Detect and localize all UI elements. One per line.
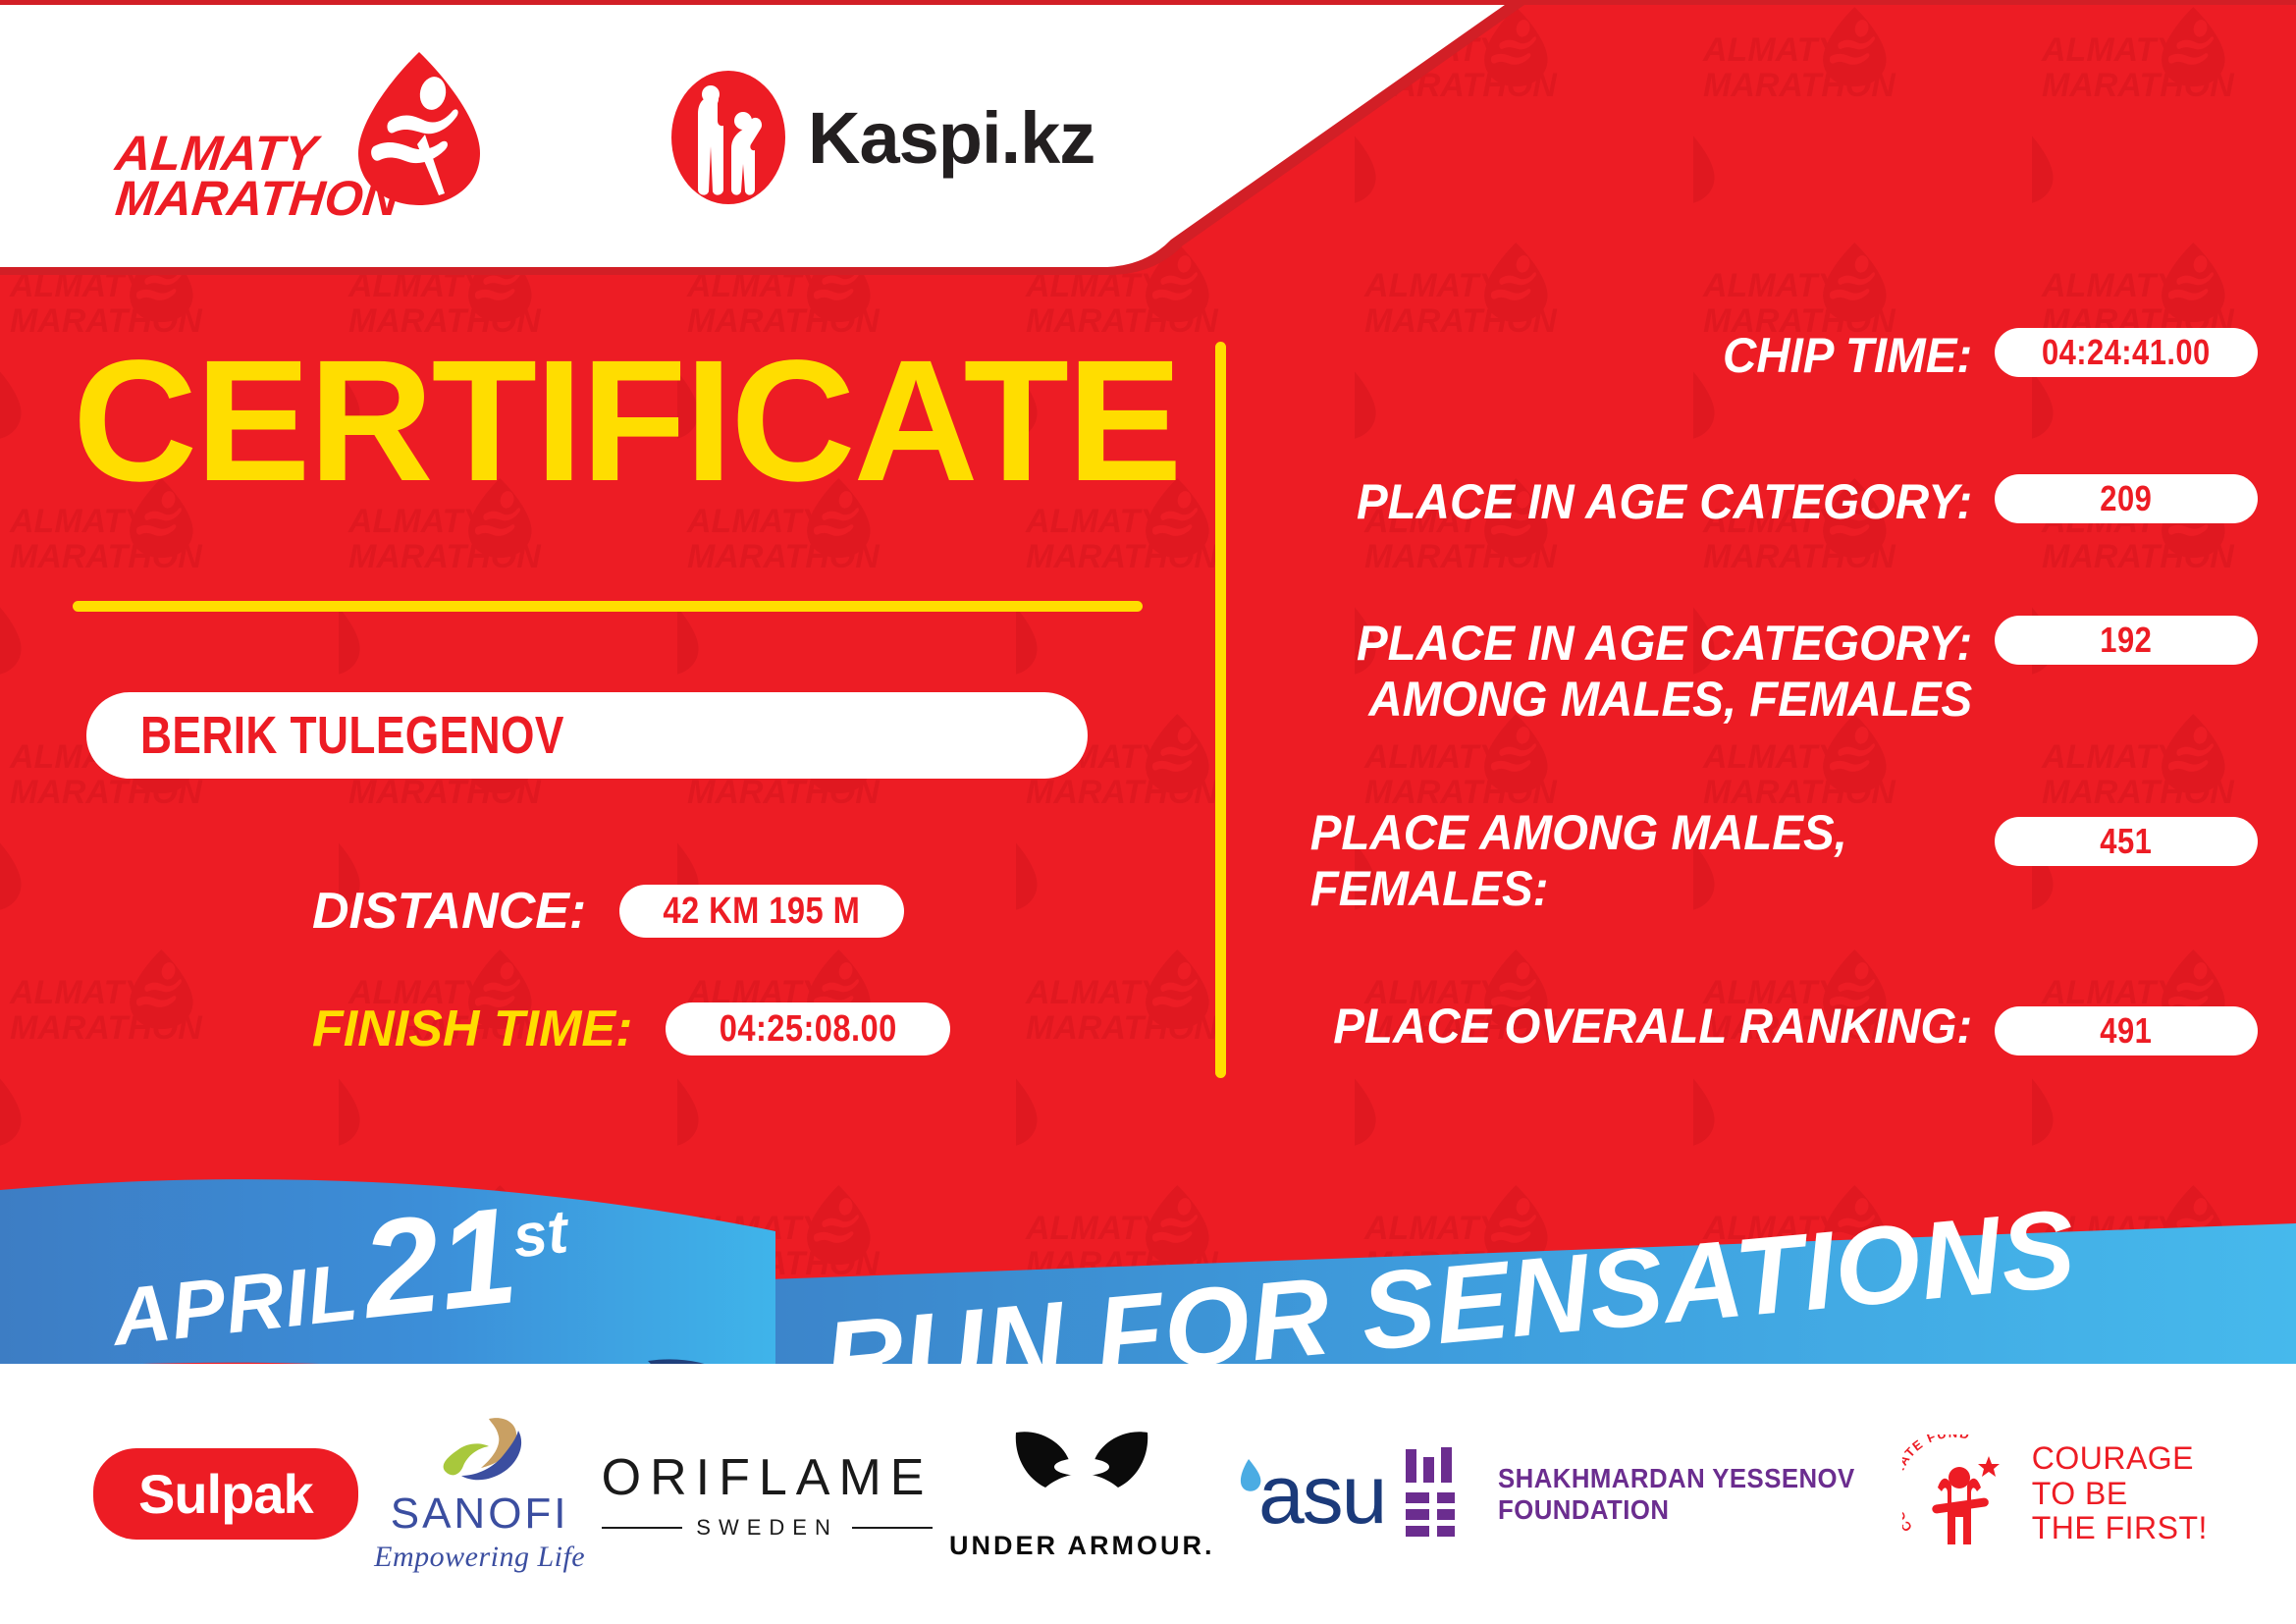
page-title: CERTIFICATE — [73, 335, 1217, 508]
sulpak-wordmark: Sulpak — [138, 1462, 313, 1526]
place-overall-ranking-row: PLACE OVERALL RANKING: 491 — [1266, 916, 2258, 1056]
oriflame-rule-left — [602, 1527, 683, 1529]
sponsor-under-armour: UNDER ARMOUR. — [949, 1427, 1215, 1561]
place-among-males-females-label: PLACE AMONG MALES, FEMALES: — [1303, 805, 1995, 916]
courage-line3: THE FIRST! — [2032, 1511, 2208, 1546]
header: ALMATY MARATHON — [0, 0, 1531, 281]
certificate-canvas: ALMATY MARATHON — [0, 0, 2296, 1624]
courage-line2: TO BE — [2032, 1477, 2208, 1512]
event-day: 21 — [356, 1193, 521, 1332]
runner-drop-icon — [354, 50, 484, 207]
column-divider — [1215, 342, 1226, 1078]
yessenov-line2: FOUNDATION — [1498, 1494, 1855, 1525]
sponsor-sulpak: Sulpak — [93, 1448, 358, 1540]
chip-time-value: 04:24:41.00 — [2042, 332, 2211, 373]
finish-time-value-pill: 04:25:08.00 — [666, 1002, 950, 1056]
place-overall-ranking-label: PLACE OVERALL RANKING: — [1303, 999, 1995, 1055]
courage-child-icon: CORPORATE FUND — [1902, 1435, 2016, 1554]
finish-time-value: 04:25:08.00 — [720, 1008, 897, 1051]
sponsors-bar: Sulpak SANOFI Empowering Life ORIFLAME S… — [0, 1364, 2296, 1624]
distance-row: DISTANCE: 42 KM 195 M — [312, 882, 1217, 941]
place-overall-ranking-value-pill: 491 — [1995, 1006, 2258, 1056]
participant-name-field: BERIK TULEGENOV — [86, 692, 1088, 779]
place-age-category-label: PLACE IN AGE CATEGORY: — [1303, 474, 1995, 530]
kaspi-people-icon — [670, 70, 786, 205]
oriflame-rule-right — [852, 1527, 934, 1529]
kaspi-wordmark: Kaspi.kz — [808, 96, 1095, 180]
sanofi-icon — [428, 1415, 532, 1488]
sponsor-asu: asu — [1231, 1453, 1385, 1536]
place-among-males-females-value: 451 — [2101, 821, 2153, 862]
place-age-category-among-row: PLACE IN AGE CATEGORY: AMONG MALES, FEMA… — [1266, 529, 2258, 727]
place-among-males-females-row: PLACE AMONG MALES, FEMALES: 451 — [1266, 727, 2258, 916]
chip-time-label: CHIP TIME: — [1303, 328, 1995, 384]
event-day-suffix: st — [509, 1197, 570, 1272]
sponsor-shakhmardan-yessenov-foundation: SHAKHMARDAN YESSENOV FOUNDATION — [1402, 1447, 1886, 1542]
oriflame-wordmark: ORIFLAME — [602, 1448, 934, 1507]
finish-time-row: FINISH TIME: 04:25:08.00 — [312, 1000, 1217, 1058]
left-column: CERTIFICATE BERIK TULEGENOV DISTANCE: 42… — [0, 281, 1217, 1058]
chip-time-value-pill: 04:24:41.00 — [1995, 328, 2258, 377]
place-age-category-among-value: 192 — [2101, 620, 2153, 661]
under-armour-wordmark: UNDER ARMOUR. — [949, 1531, 1215, 1561]
sanofi-wordmark: SANOFI — [391, 1489, 569, 1539]
courage-line1: COURAGE — [2032, 1441, 2208, 1477]
sanofi-tagline: Empowering Life — [374, 1541, 585, 1574]
yessenov-line1: SHAKHMARDAN YESSENOV — [1498, 1463, 1855, 1493]
under-armour-icon — [1008, 1427, 1155, 1521]
right-column: CHIP TIME: 04:24:41.00 PLACE IN AGE CATE… — [1266, 281, 2258, 1056]
place-age-category-value: 209 — [2101, 478, 2153, 519]
top-rule — [0, 0, 2296, 5]
place-overall-ranking-value: 491 — [2101, 1010, 2153, 1052]
asu-wordmark: asu — [1258, 1453, 1385, 1536]
almaty-marathon-logo: ALMATY MARATHON — [116, 54, 508, 221]
place-age-category-among-label: PLACE IN AGE CATEGORY: AMONG MALES, FEMA… — [1303, 616, 1995, 727]
chip-time-row: CHIP TIME: 04:24:41.00 — [1266, 328, 2258, 384]
distance-value: 42 KM 195 M — [664, 891, 861, 933]
sponsor-oriflame: ORIFLAME SWEDEN — [602, 1448, 934, 1541]
place-age-category-row: PLACE IN AGE CATEGORY: 209 — [1266, 384, 2258, 530]
finish-time-label: FINISH TIME: — [312, 1000, 632, 1058]
oriflame-subtitle: SWEDEN — [696, 1515, 838, 1541]
distance-value-pill: 42 KM 195 M — [619, 885, 904, 938]
place-among-males-females-value-pill: 451 — [1995, 817, 2258, 866]
sponsor-corporate-fund: CORPORATE FUND COURAGE TO BE THE FIRST! — [1902, 1435, 2208, 1554]
distance-label: DISTANCE: — [312, 882, 586, 941]
participant-name: BERIK TULEGENOV — [140, 705, 564, 766]
title-underline — [73, 601, 1143, 612]
yessenov-bars-icon — [1402, 1447, 1472, 1542]
kaspi-logo: Kaspi.kz — [670, 70, 1095, 205]
sponsor-sanofi: SANOFI Empowering Life — [374, 1415, 585, 1574]
place-age-category-value-pill: 209 — [1995, 474, 2258, 523]
place-age-category-among-value-pill: 192 — [1995, 616, 2258, 665]
